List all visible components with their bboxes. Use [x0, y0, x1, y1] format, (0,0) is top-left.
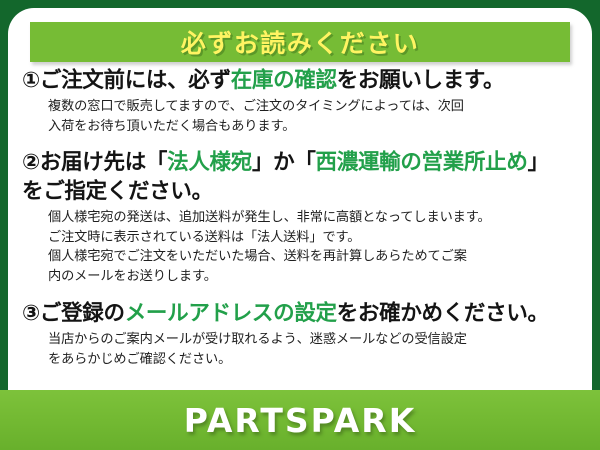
spacer-2: [8, 286, 592, 299]
item-2-text-a: お届け先は: [40, 150, 146, 175]
notice-item-1: ①ご注文前には、必ず在庫の確認をお願いします。 複数の窓口で販売してますので、ご…: [8, 66, 592, 136]
header-title: 必ずお読みください: [181, 24, 420, 60]
header-bar: 必ずお読みください: [30, 22, 570, 62]
item-3-text-a: ご登録の: [40, 301, 125, 326]
item-2-headline: ②お届け先は「法人様宛」か「西濃運輸の営業所止め」: [8, 148, 592, 177]
item-3-marker: ③: [22, 301, 40, 326]
item-3-subtext: 当店からのご案内メールが受け取れるよう、迷惑メールなどの受信設定 をあらかじめご…: [8, 328, 592, 369]
brand-logo-partspark: PARTSPARK: [184, 401, 417, 440]
notice-item-2: ②お届け先は「法人様宛」か「西濃運輸の営業所止め」 をご指定ください。 個人様宅…: [8, 148, 592, 286]
notice-body: ①ご注文前には、必ず在庫の確認をお願いします。 複数の窓口で販売してますので、ご…: [8, 66, 592, 398]
item-2-bracket-close-2: 」: [528, 150, 549, 175]
footer-bar: PARTSPARK: [0, 390, 600, 450]
item-3-subtext-line-1: 当店からのご案内メールが受け取れるよう、迷惑メールなどの受信設定: [48, 330, 578, 350]
item-1-highlight: 在庫の確認: [231, 68, 337, 93]
item-1-subtext-line-2: 入荷をお待ち頂いただく場合もあります。: [48, 117, 578, 137]
item-1-text-a: ご注文前には、必ず: [40, 68, 231, 93]
item-1-subtext: 複数の窓口で販売してますので、ご注文のタイミングによっては、次回 入荷をお待ち頂…: [8, 95, 592, 136]
item-2-text-b: か: [273, 150, 294, 175]
notice-item-3: ③ご登録のメールアドレスの設定をお確かめください。 当店からのご案内メールが受け…: [8, 299, 592, 369]
item-1-marker: ①: [22, 68, 40, 93]
item-3-headline: ③ご登録のメールアドレスの設定をお確かめください。: [8, 299, 592, 328]
item-2-marker: ②: [22, 150, 40, 175]
item-1-headline: ①ご注文前には、必ず在庫の確認をお願いします。: [8, 66, 592, 95]
item-3-subtext-line-2: をあらかじめご確認ください。: [48, 350, 578, 370]
item-3-highlight: メールアドレスの設定: [125, 301, 337, 326]
item-2-highlight-1: 法人様宛: [167, 150, 252, 175]
item-2-bracket-close-1: 」: [252, 150, 273, 175]
item-2-highlight-2: 西濃運輸の営業所止め: [316, 150, 528, 175]
notice-card: 必ずお読みください ①ご注文前には、必ず在庫の確認をお願いします。 複数の窓口で…: [8, 8, 592, 442]
item-3-text-b: をお確かめください。: [337, 301, 549, 326]
notice-banner: 必ずお読みください ①ご注文前には、必ず在庫の確認をお願いします。 複数の窓口で…: [0, 0, 600, 450]
item-1-subtext-line-1: 複数の窓口で販売してますので、ご注文のタイミングによっては、次回: [48, 97, 578, 117]
item-2-subtext-line-4: 内のメールをお送りします。: [48, 267, 578, 287]
item-1-text-b: をお願いします。: [337, 68, 504, 93]
item-2-bracket-open-1: 「: [146, 150, 167, 175]
item-2-bracket-open-2: 「: [294, 150, 315, 175]
item-2-headline-line2: をご指定ください。: [8, 177, 592, 206]
item-2-subtext-line-1: 個人様宅宛の発送は、追加送料が発生し、非常に高額となってしまいます。: [48, 208, 578, 228]
item-2-subtext: 個人様宅宛の発送は、追加送料が発生し、非常に高額となってしまいます。 ご注文時に…: [8, 206, 592, 286]
item-2-subtext-line-3: 個人様宅宛でご注文をいただいた場合、送料を再計算しあらためてご案: [48, 247, 578, 267]
item-2-subtext-line-2: ご注文時に表示されている送料は「法人送料」です。: [48, 228, 578, 248]
spacer-1: [8, 136, 592, 148]
